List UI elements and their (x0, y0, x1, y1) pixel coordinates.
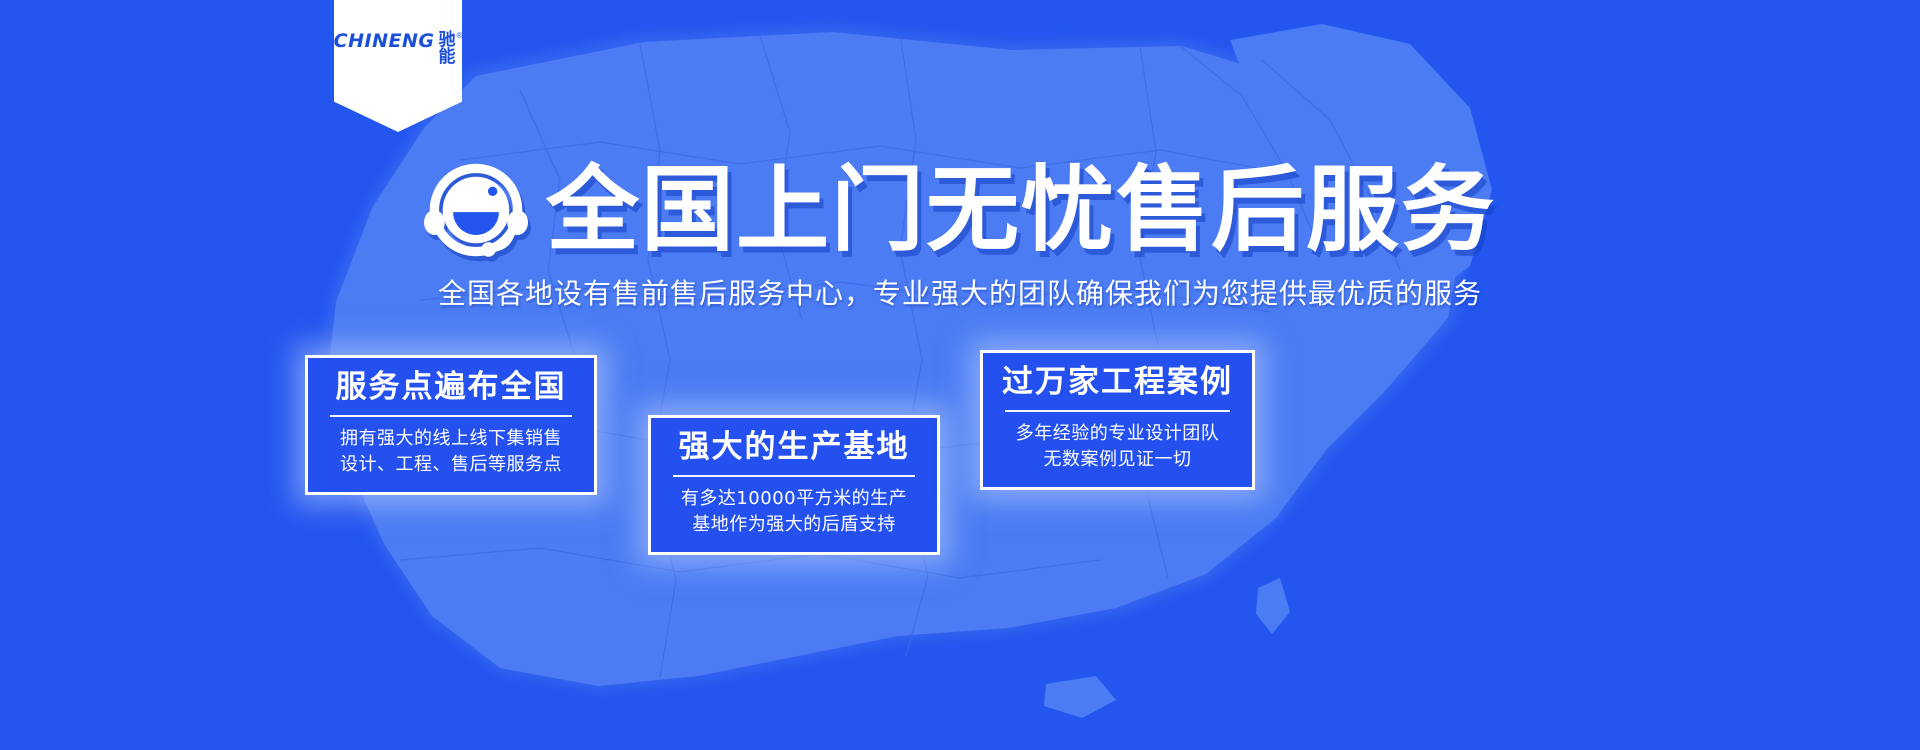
feature-card-divider (1005, 410, 1230, 412)
logo-english-text: CHINENG (334, 32, 435, 51)
promo-banner: CHINENG 驰能 ® 全国上门无忧售后服务 全国各地设有售前售后服务中心，专… (0, 0, 1920, 750)
customer-service-smiley-icon (424, 158, 528, 262)
feature-card-desc-line-1: 有多达10000平方米的生产 (669, 486, 919, 512)
feature-card[interactable]: 过万家工程案例 多年经验的专业设计团队 无数案例见证一切 (980, 350, 1255, 490)
logo-lockup: CHINENG 驰能 ® (334, 32, 463, 66)
feature-card-desc-line-1: 拥有强大的线上线下集销售 (326, 426, 576, 452)
feature-card-desc-line-1: 多年经验的专业设计团队 (1001, 421, 1234, 447)
china-map-background (0, 0, 1920, 750)
logo-ribbon[interactable]: CHINENG 驰能 ® (334, 0, 462, 132)
feature-card-title: 服务点遍布全国 (326, 368, 576, 407)
feature-card-title: 过万家工程案例 (1001, 363, 1234, 402)
feature-card-desc-line-2: 无数案例见证一切 (1001, 447, 1234, 473)
feature-card[interactable]: 服务点遍布全国 拥有强大的线上线下集销售 设计、工程、售后等服务点 (305, 355, 597, 495)
page-subtitle: 全国各地设有售前售后服务中心，专业强大的团队确保我们为您提供最优质的服务 (0, 272, 1920, 312)
feature-card-divider (330, 415, 572, 417)
feature-card[interactable]: 强大的生产基地 有多达10000平方米的生产 基地作为强大的后盾支持 (648, 415, 940, 555)
feature-card-desc-line-2: 设计、工程、售后等服务点 (326, 452, 576, 478)
page-title: 全国上门无忧售后服务 (546, 164, 1496, 257)
headline-row: 全国上门无忧售后服务 (0, 158, 1920, 262)
feature-card-divider (673, 475, 915, 477)
registered-trademark-icon: ® (456, 32, 462, 40)
logo-chinese-text: 驰能 (438, 32, 455, 66)
feature-card-title: 强大的生产基地 (669, 428, 919, 467)
feature-card-desc-line-2: 基地作为强大的后盾支持 (669, 512, 919, 538)
